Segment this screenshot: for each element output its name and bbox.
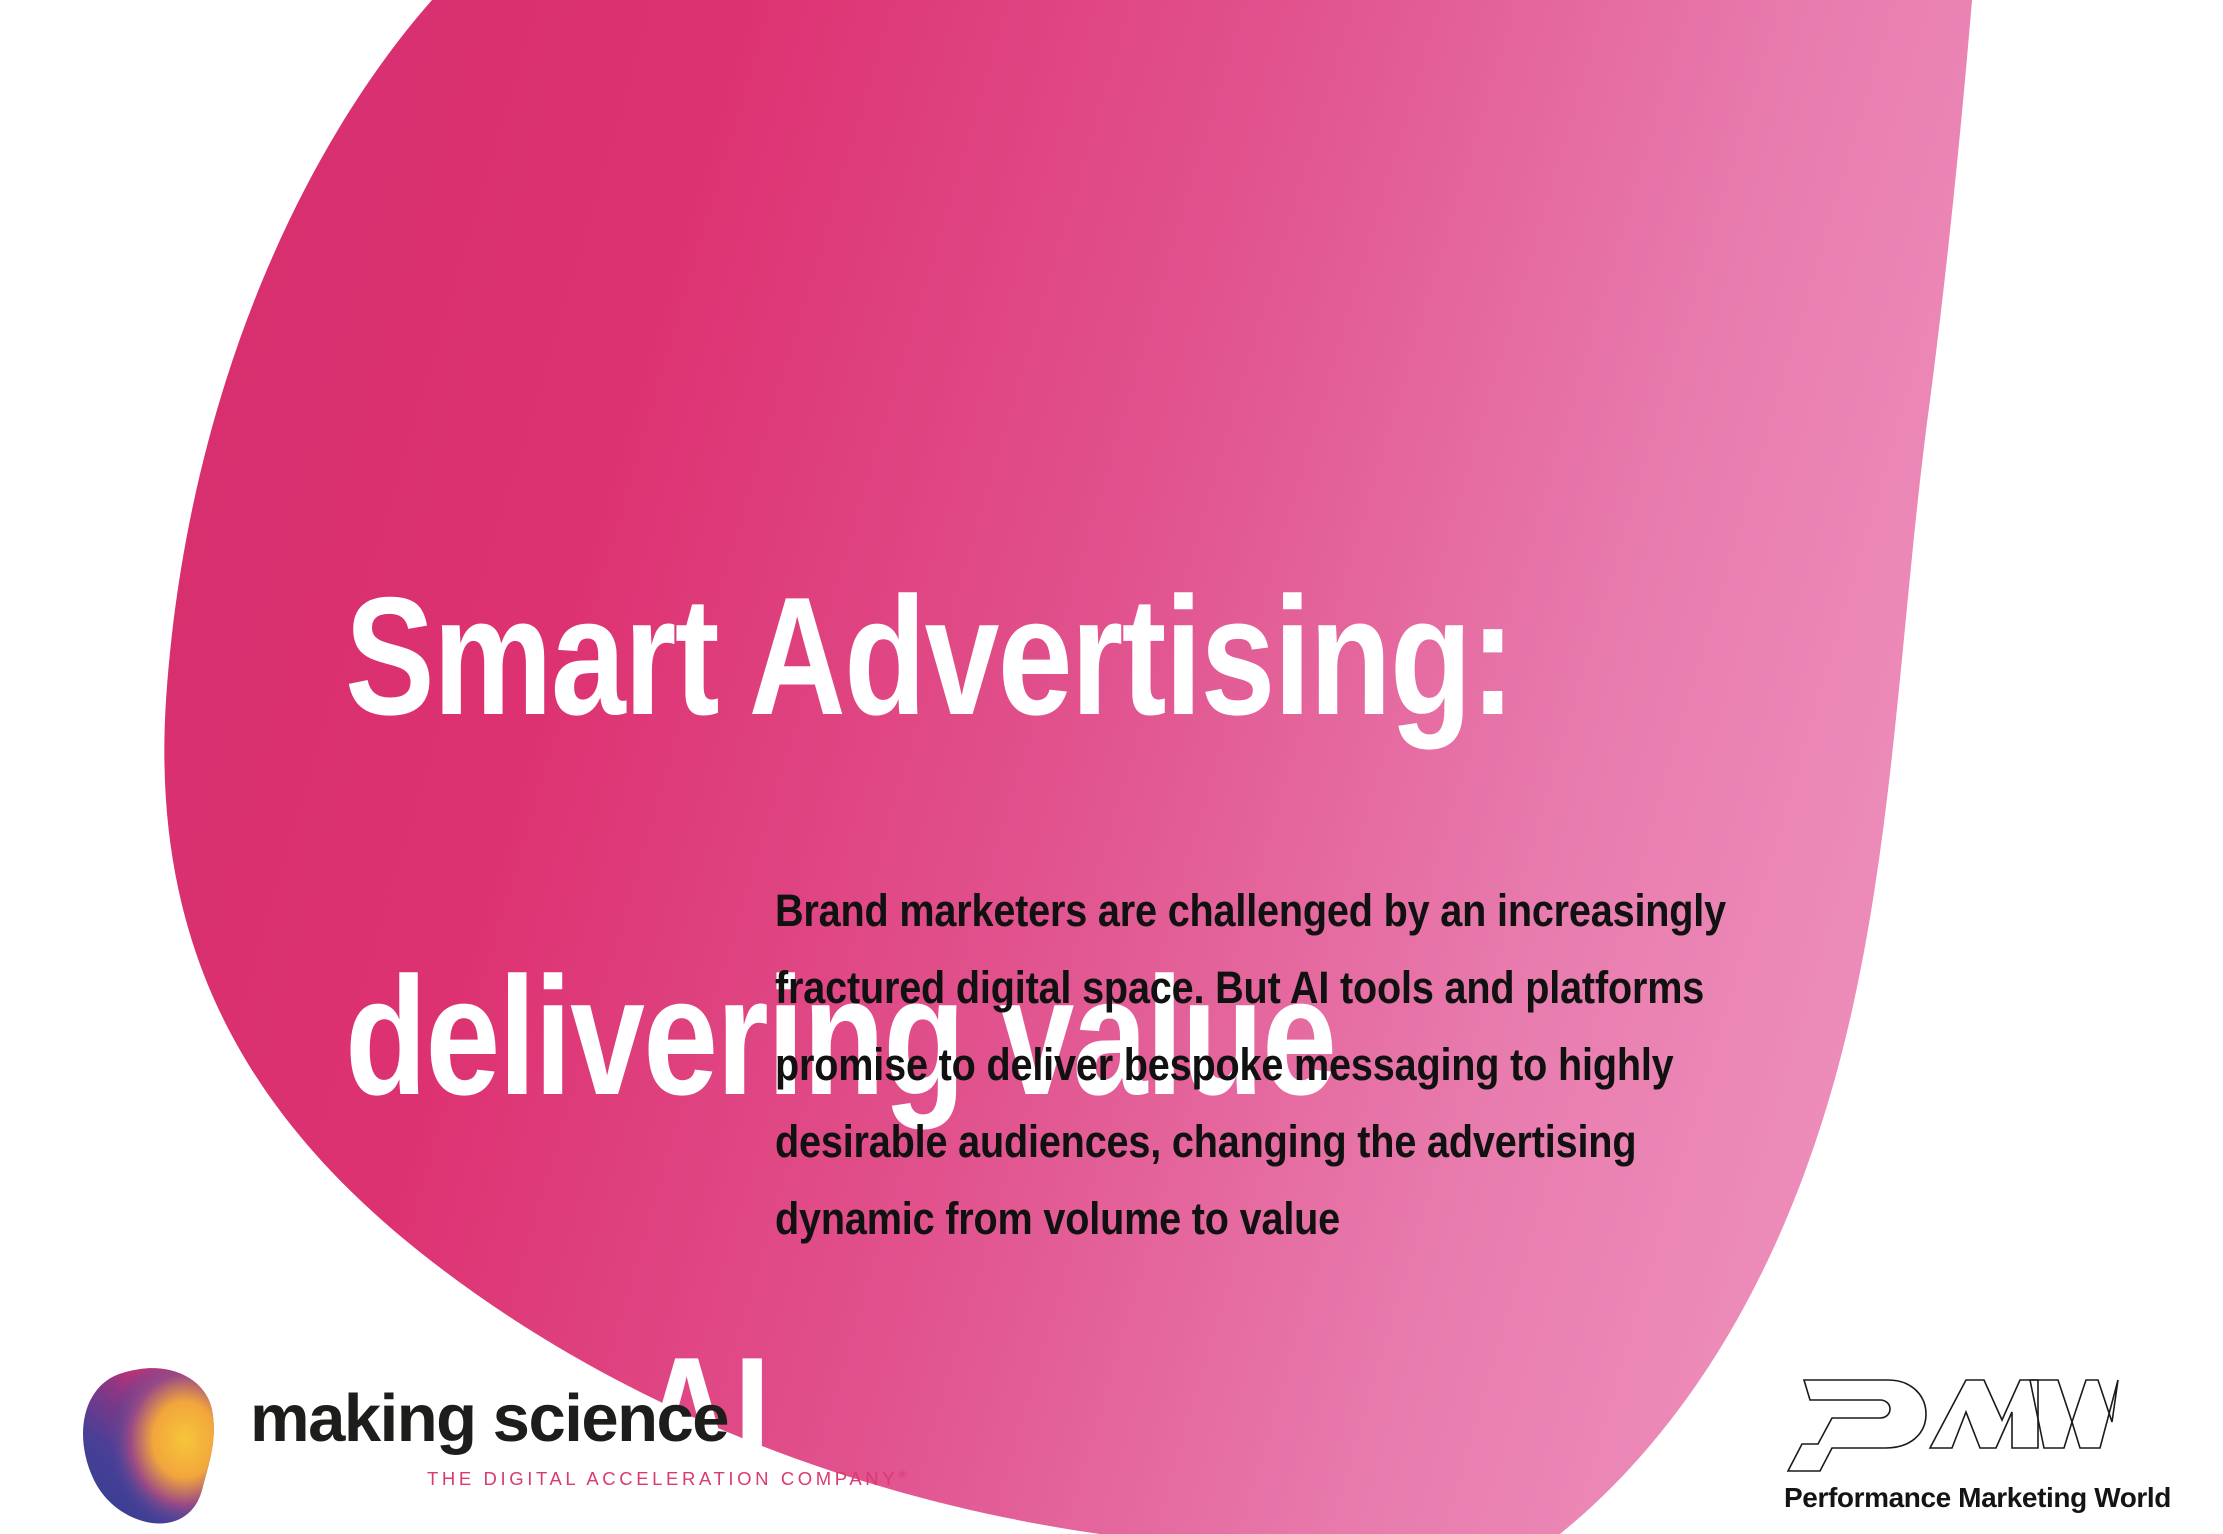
standfirst-text: Brand marketers are challenged by an inc… bbox=[775, 872, 1708, 1257]
pmw-outline-icon bbox=[1780, 1378, 2120, 1473]
standfirst-line-4: desirable audiences, changing the advert… bbox=[775, 1103, 1708, 1180]
headline-line-1: Smart Advertising: bbox=[345, 561, 1593, 751]
gradient-blob-icon bbox=[82, 1366, 217, 1526]
registered-mark: ® bbox=[898, 1469, 906, 1481]
making-science-logo: making science THE DIGITAL ACCELERATION … bbox=[82, 1362, 782, 1527]
standfirst-line-1: Brand marketers are challenged by an inc… bbox=[775, 872, 1708, 949]
pmw-caption: Performance Marketing World bbox=[1784, 1482, 2171, 1514]
pmw-logo: Performance Marketing World bbox=[1780, 1378, 2150, 1523]
report-cover-page: Smart Advertising: delivering value with… bbox=[0, 0, 2223, 1534]
making-science-blob-icon bbox=[82, 1366, 217, 1526]
making-science-wordmark: making science bbox=[250, 1384, 728, 1454]
making-science-tagline: THE DIGITAL ACCELERATION COMPANY® bbox=[427, 1468, 906, 1490]
standfirst-line-2: fractured digital space. But AI tools an… bbox=[775, 949, 1708, 1026]
pmw-monogram-icon bbox=[1780, 1378, 2120, 1473]
standfirst-line-5: dynamic from volume to value bbox=[775, 1180, 1708, 1257]
standfirst-line-3: promise to deliver bespoke messaging to … bbox=[775, 1026, 1708, 1103]
tagline-text: THE DIGITAL ACCELERATION COMPANY bbox=[427, 1468, 898, 1489]
